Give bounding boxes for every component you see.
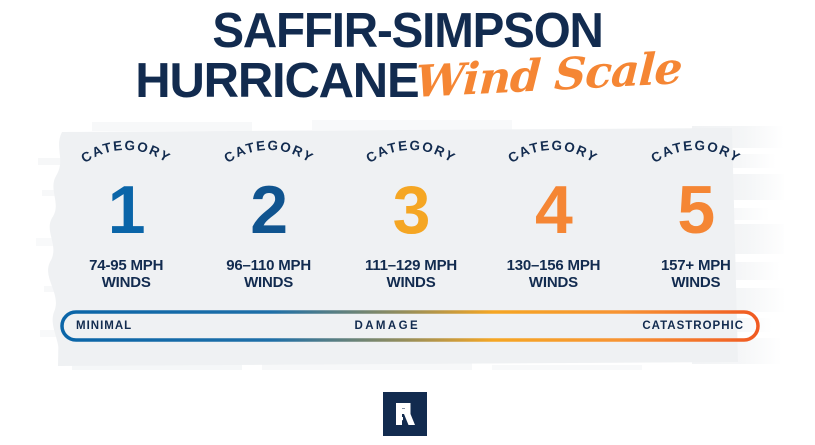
category-speed-3: 111–129 MPH WINDS: [365, 257, 457, 291]
title-line-1: SAFFIR-SIMPSON: [12, 8, 803, 54]
category-column-2: CATEGORY 2 96–110 MPH WINDS: [197, 140, 339, 305]
category-speed-4: 130–156 MPH WINDS: [507, 257, 601, 291]
category-label-2: CATEGORY: [221, 140, 316, 166]
category-label-1: CATEGORY: [79, 140, 174, 166]
category-label-3: CATEGORY: [363, 140, 458, 166]
category-column-1: CATEGORY 1 74-95 MPH WINDS: [55, 140, 197, 305]
category-speed-line1-1: 74-95 MPH: [89, 257, 163, 274]
damage-label-center: DAMAGE: [132, 320, 642, 332]
svg-text:CATEGORY: CATEGORY: [221, 140, 316, 166]
category-grid: CATEGORY 1 74-95 MPH WINDS CATEGORY 2 96…: [55, 140, 767, 305]
category-speed-line2-2: WINDS: [226, 274, 311, 291]
category-column-4: CATEGORY 4 130–156 MPH WINDS: [482, 140, 624, 305]
ramsey-r-icon: [383, 392, 427, 436]
ramsey-logo: [383, 392, 427, 436]
svg-text:CATEGORY: CATEGORY: [79, 140, 174, 166]
category-speed-line1-3: 111–129 MPH: [365, 257, 457, 274]
category-label-5: CATEGORY: [648, 140, 743, 166]
damage-scale-labels: MINIMAL DAMAGE CATASTROPHIC: [60, 310, 760, 342]
category-speed-line1-2: 96–110 MPH: [226, 257, 311, 274]
damage-label-minimal: MINIMAL: [76, 320, 132, 332]
title-line-2: HURRICANE: [135, 56, 418, 106]
category-speed-line2-3: WINDS: [365, 274, 457, 291]
category-number-5: 5: [677, 178, 714, 242]
category-column-5: CATEGORY 5 157+ MPH WINDS: [625, 140, 767, 305]
title-line-2-wrap: HURRICANEWind Scale: [0, 56, 815, 118]
damage-label-catastrophic: CATASTROPHIC: [642, 320, 744, 332]
category-speed-2: 96–110 MPH WINDS: [226, 257, 311, 291]
category-speed-5: 157+ MPH WINDS: [661, 257, 731, 291]
svg-text:CATEGORY: CATEGORY: [363, 140, 458, 166]
category-number-4: 4: [535, 178, 572, 242]
svg-text:CATEGORY: CATEGORY: [506, 140, 601, 166]
category-speed-1: 74-95 MPH WINDS: [89, 257, 163, 291]
page-title: SAFFIR-SIMPSON HURRICANEWind Scale: [0, 8, 815, 118]
damage-scale-bar: MINIMAL DAMAGE CATASTROPHIC: [60, 310, 760, 342]
category-speed-line2-1: WINDS: [89, 274, 163, 291]
category-number-1: 1: [108, 178, 145, 242]
category-speed-line2-5: WINDS: [661, 274, 731, 291]
category-speed-line2-4: WINDS: [507, 274, 601, 291]
category-number-3: 3: [393, 178, 430, 242]
category-speed-line1-5: 157+ MPH: [661, 257, 731, 274]
svg-text:CATEGORY: CATEGORY: [648, 140, 743, 166]
category-speed-line1-4: 130–156 MPH: [507, 257, 601, 274]
category-column-3: CATEGORY 3 111–129 MPH WINDS: [340, 140, 482, 305]
category-number-2: 2: [250, 178, 287, 242]
category-label-4: CATEGORY: [506, 140, 601, 166]
